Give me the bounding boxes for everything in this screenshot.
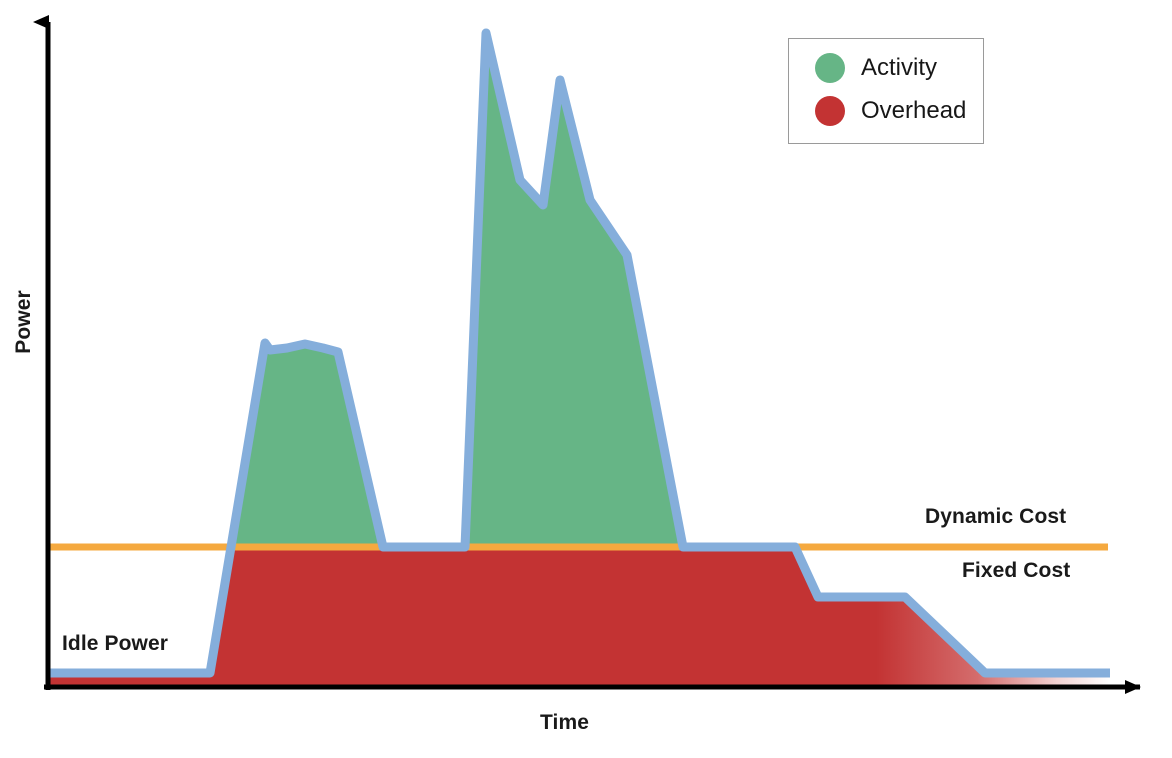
x-axis-label: Time xyxy=(540,711,589,735)
fixed-cost-label: Fixed Cost xyxy=(962,559,1070,583)
y-axis-label: Power xyxy=(12,290,36,354)
legend-label-activity: Activity xyxy=(861,56,937,80)
legend-swatch-overhead-icon xyxy=(815,96,845,126)
idle-power-label: Idle Power xyxy=(62,632,168,656)
legend-entry-activity: Activity xyxy=(815,53,937,83)
legend-entry-overhead: Overhead xyxy=(815,96,966,126)
legend-swatch-activity-icon xyxy=(815,53,845,83)
power-time-chart xyxy=(0,0,1172,758)
chart-legend: Activity Overhead xyxy=(788,38,984,144)
legend-label-overhead: Overhead xyxy=(861,99,966,123)
chart-canvas: Dynamic Cost Fixed Cost Idle Power Time … xyxy=(0,0,1172,758)
dynamic-cost-label: Dynamic Cost xyxy=(925,505,1066,529)
